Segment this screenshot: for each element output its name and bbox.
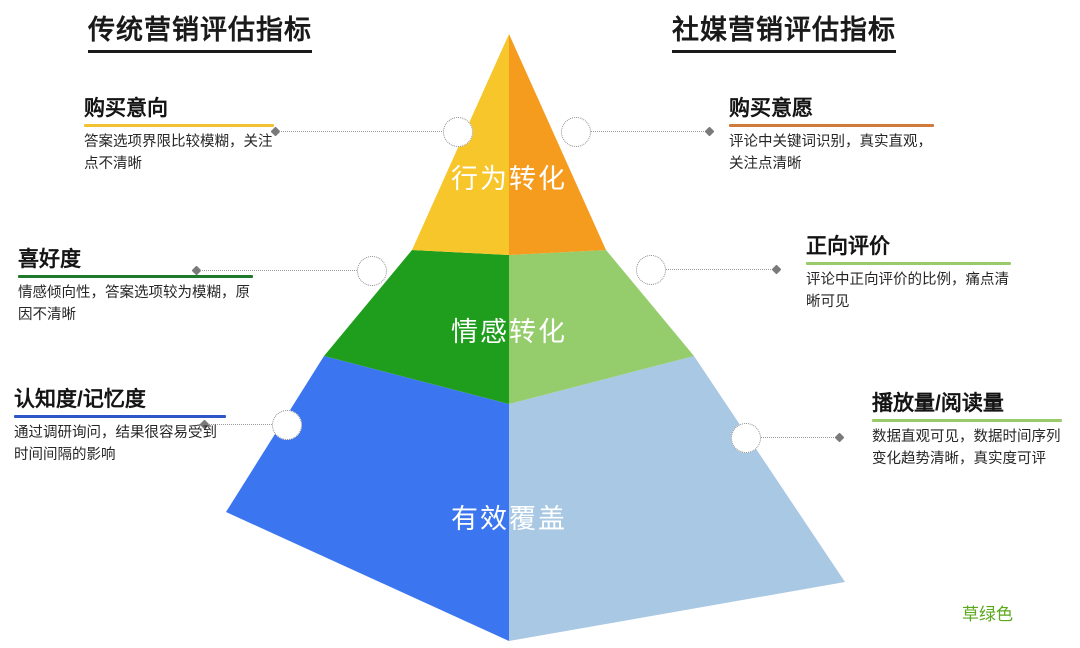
pyramid-label-emotion: 情感转化 xyxy=(451,317,567,347)
annotation-positive-review-rule xyxy=(806,262,1011,265)
pyramid-face-reach-left xyxy=(226,356,509,641)
pyramid-face-behavior-right xyxy=(509,34,606,255)
connector-line-buy-intent xyxy=(279,131,448,133)
annotation-buy-will-title: 购买意愿 xyxy=(729,97,934,121)
annotation-positive-review-desc: 评论中正向评价的比例，痛点清晰可见 xyxy=(806,270,1011,314)
connector-node-views-reads xyxy=(731,423,761,453)
connector-node-liking xyxy=(357,256,387,286)
annotation-buy-will: 购买意愿 评论中关键词识别，真实直观，关注点清晰 xyxy=(729,97,934,176)
annotation-buy-will-desc: 评论中关键词识别，真实直观，关注点清晰 xyxy=(729,132,934,176)
pyramid-label-behavior: 行为转化 xyxy=(451,164,567,194)
annotation-buy-will-rule xyxy=(729,124,934,127)
annotation-awareness-desc: 通过调研询问，结果很容易受到时间间隔的影响 xyxy=(14,423,226,467)
annotation-positive-review: 正向评价 评论中正向评价的比例，痛点清晰可见 xyxy=(806,235,1011,314)
diagram-canvas: 传统营销评估指标 社媒营销评估指标 行为转化 情感转化 有效覆盖 购买意向 xyxy=(0,0,1080,648)
connector-node-awareness xyxy=(272,410,302,440)
annotation-buy-intent-desc: 答案选项界限比较模糊，关注点不清晰 xyxy=(84,132,274,176)
annotation-liking-desc: 情感倾向性，答案选项较为模糊，原因不清晰 xyxy=(18,283,253,327)
annotation-buy-intent-rule xyxy=(84,124,274,127)
annotation-buy-intent-title: 购买意向 xyxy=(84,97,274,121)
annotation-awareness: 认知度/记忆度 通过调研询问，结果很容易受到时间间隔的影响 xyxy=(14,388,226,467)
legend-note: 草绿色 xyxy=(962,600,1013,625)
connector-node-positive-review xyxy=(636,255,666,285)
annotation-views-reads-rule xyxy=(872,419,1062,422)
annotation-liking-rule xyxy=(18,275,253,278)
connector-node-buy-intent xyxy=(443,117,473,147)
annotation-views-reads-title: 播放量/阅读量 xyxy=(872,392,1062,416)
annotation-awareness-rule xyxy=(14,415,226,418)
annotation-views-reads: 播放量/阅读量 数据直观可见，数据时间序列变化趋势清晰，真实度可评 xyxy=(872,392,1062,471)
annotation-positive-review-title: 正向评价 xyxy=(806,235,1011,259)
connector-line-views-reads xyxy=(761,437,840,439)
pyramid-label-reach: 有效覆盖 xyxy=(451,504,567,534)
annotation-buy-intent: 购买意向 答案选项界限比较模糊，关注点不清晰 xyxy=(84,97,274,176)
annotation-views-reads-desc: 数据直观可见，数据时间序列变化趋势清晰，真实度可评 xyxy=(872,427,1062,471)
annotation-liking: 喜好度 情感倾向性，答案选项较为模糊，原因不清晰 xyxy=(18,248,253,327)
annotation-awareness-title: 认知度/记忆度 xyxy=(14,388,226,412)
annotation-liking-title: 喜好度 xyxy=(18,248,253,272)
connector-node-buy-will xyxy=(561,117,591,147)
pyramid-face-reach-right xyxy=(509,356,845,641)
connector-line-buy-will xyxy=(591,131,710,133)
connector-line-positive-review xyxy=(666,269,777,271)
